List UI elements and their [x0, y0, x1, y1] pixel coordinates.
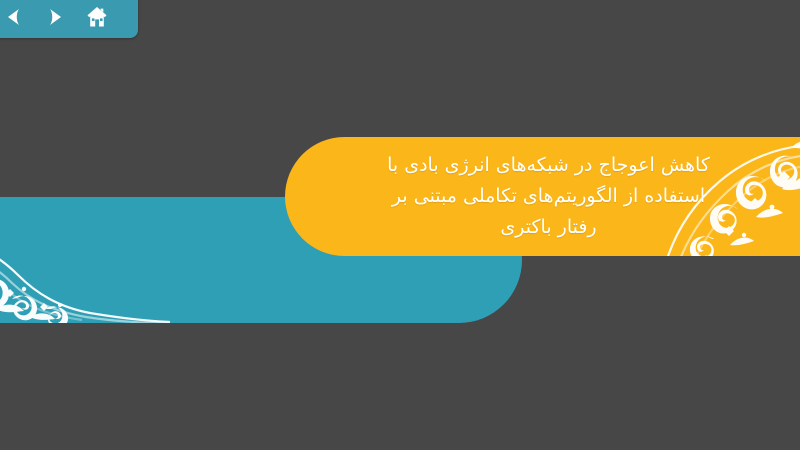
forward-button[interactable] — [36, 2, 74, 32]
back-button[interactable] — [0, 2, 32, 32]
home-icon — [86, 7, 108, 28]
navigation-bar — [0, 0, 138, 38]
home-button[interactable] — [78, 2, 116, 32]
presentation-slide: کاهش اعوجاج در شبکه‌های انرژی بادی با اس… — [0, 0, 800, 450]
teal-arabesque-ornament — [0, 197, 170, 323]
slide-title-line-1: کاهش اعوجاج در شبکه‌های انرژی بادی با — [387, 150, 710, 181]
slide-title-line-3: رفتار باکتری — [500, 212, 596, 243]
slide-title-line-2: استفاده از الگوریتم‌های تکاملی مبتنی بر — [392, 181, 705, 212]
slide-title: کاهش اعوجاج در شبکه‌های انرژی بادی با اس… — [285, 137, 800, 256]
back-icon — [5, 8, 22, 26]
forward-icon — [47, 8, 64, 26]
